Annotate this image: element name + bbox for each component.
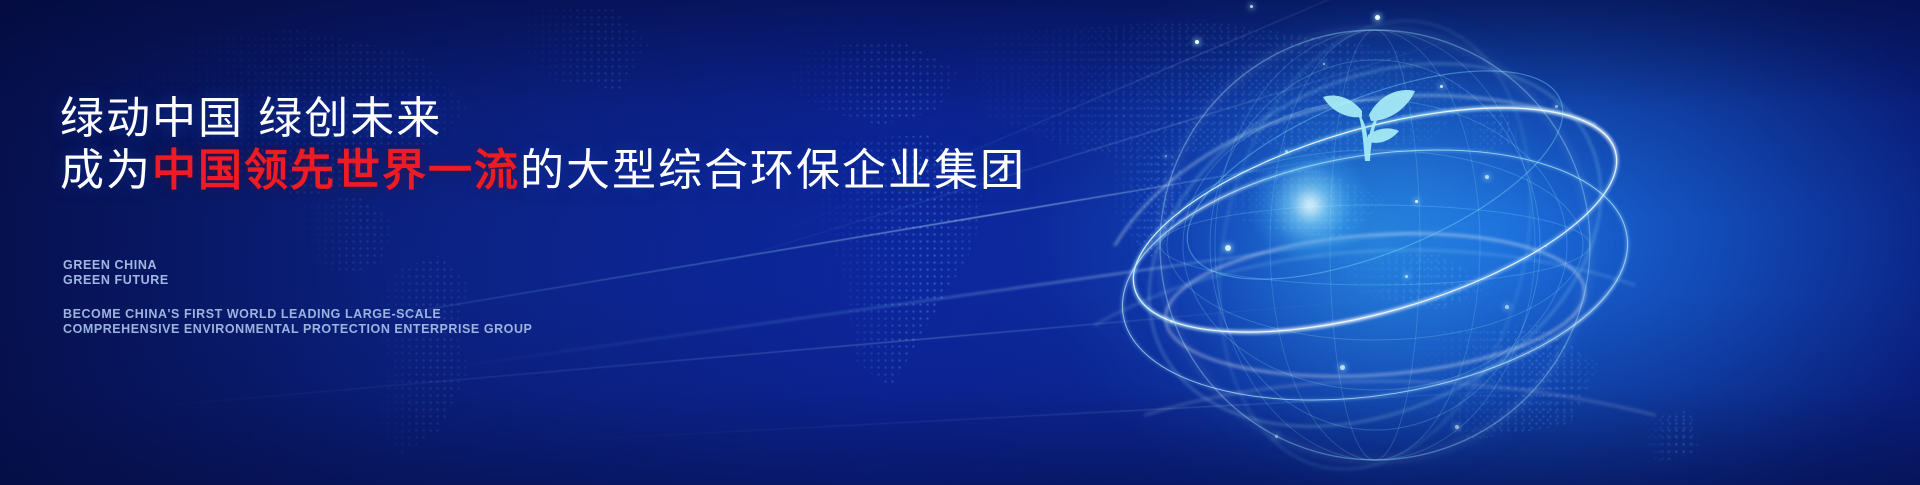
- headline-line-2: 成为中国领先世界一流的大型综合环保企业集团: [60, 134, 1026, 198]
- headline-suffix: 的大型综合环保企业集团: [520, 146, 1026, 195]
- tagline-english-line-1: BECOME CHINA'S FIRST WORLD LEADING LARGE…: [63, 307, 532, 322]
- slogan-english-line-1: GREEN CHINA: [63, 258, 169, 273]
- hero-banner: 绿动中国 绿创未来 成为中国领先世界一流的大型综合环保企业集团 GREEN CH…: [0, 0, 1920, 485]
- slogan-english: GREEN CHINA GREEN FUTURE: [63, 258, 169, 288]
- headline-highlight: 中国领先世界一流: [152, 146, 520, 195]
- headline-prefix: 成为: [60, 146, 152, 195]
- tagline-english: BECOME CHINA'S FIRST WORLD LEADING LARGE…: [63, 307, 532, 337]
- copy-block: 绿动中国 绿创未来 成为中国领先世界一流的大型综合环保企业集团 GREEN CH…: [60, 0, 1060, 485]
- tagline-english-line-2: COMPREHENSIVE ENVIRONMENTAL PROTECTION E…: [63, 322, 532, 337]
- slogan-english-line-2: GREEN FUTURE: [63, 273, 169, 288]
